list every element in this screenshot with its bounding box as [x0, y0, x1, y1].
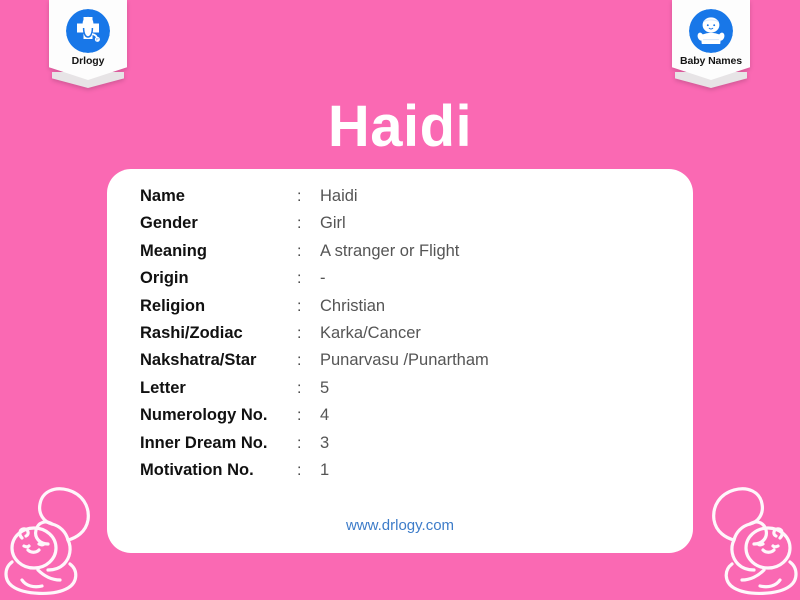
table-row: Meaning : A stranger or Flight [140, 242, 489, 269]
site-url-link[interactable]: www.drlogy.com [0, 517, 800, 534]
row-label: Motivation No. [140, 461, 297, 480]
row-label: Meaning [140, 242, 297, 261]
badge-body: P Drlogy [49, 0, 127, 80]
row-value: 5 [320, 379, 329, 398]
row-label: Letter [140, 379, 297, 398]
row-separator: : [297, 270, 320, 288]
mother-baby-icon-left [0, 476, 102, 598]
row-value: Haidi [320, 187, 358, 206]
row-separator: : [297, 325, 320, 343]
row-separator: : [297, 380, 320, 398]
table-row: Inner Dream No. : 3 [140, 434, 489, 461]
table-row: Numerology No. : 4 [140, 406, 489, 433]
row-value: Christian [320, 297, 385, 316]
row-label: Name [140, 187, 297, 206]
row-value: - [320, 269, 326, 288]
row-separator: : [297, 215, 320, 233]
row-label: Nakshatra/Star [140, 351, 297, 370]
badge-body: Baby Names [672, 0, 750, 80]
drlogy-badge[interactable]: P Drlogy [49, 0, 127, 80]
table-row: Nakshatra/Star : Punarvasu /Punartham [140, 351, 489, 378]
row-separator: : [297, 352, 320, 370]
doctor-cross-icon: P [66, 9, 110, 53]
row-value: A stranger or Flight [320, 242, 459, 261]
baby-names-badge[interactable]: Baby Names [672, 0, 750, 80]
table-row: Motivation No. : 1 [140, 461, 489, 488]
row-label: Rashi/Zodiac [140, 324, 297, 343]
row-separator: : [297, 407, 320, 425]
row-label: Gender [140, 214, 297, 233]
row-label: Religion [140, 297, 297, 316]
table-row: Religion : Christian [140, 297, 489, 324]
row-label: Inner Dream No. [140, 434, 297, 453]
row-separator: : [297, 298, 320, 316]
table-row: Name : Haidi [140, 187, 489, 214]
row-separator: : [297, 243, 320, 261]
row-value: 4 [320, 406, 329, 425]
row-separator: : [297, 462, 320, 480]
table-row: Gender : Girl [140, 214, 489, 241]
page-title: Haidi [0, 97, 800, 158]
baby-icon [689, 9, 733, 53]
details-table: Name : Haidi Gender : Girl Meaning : A s… [140, 187, 489, 488]
row-value: Girl [320, 214, 346, 233]
table-row: Letter : 5 [140, 379, 489, 406]
name-details-card: Name : Haidi Gender : Girl Meaning : A s… [107, 169, 693, 553]
row-value: 3 [320, 434, 329, 453]
mother-baby-icon-right [700, 476, 800, 598]
row-label: Numerology No. [140, 406, 297, 425]
row-value: Punarvasu /Punartham [320, 351, 489, 370]
row-separator: : [297, 188, 320, 206]
row-value: 1 [320, 461, 329, 480]
row-value: Karka/Cancer [320, 324, 421, 343]
row-label: Origin [140, 269, 297, 288]
baby-names-badge-label: Baby Names [676, 56, 746, 67]
drlogy-badge-label: Drlogy [53, 56, 123, 67]
table-row: Rashi/Zodiac : Karka/Cancer [140, 324, 489, 351]
row-separator: : [297, 435, 320, 453]
table-row: Origin : - [140, 269, 489, 296]
